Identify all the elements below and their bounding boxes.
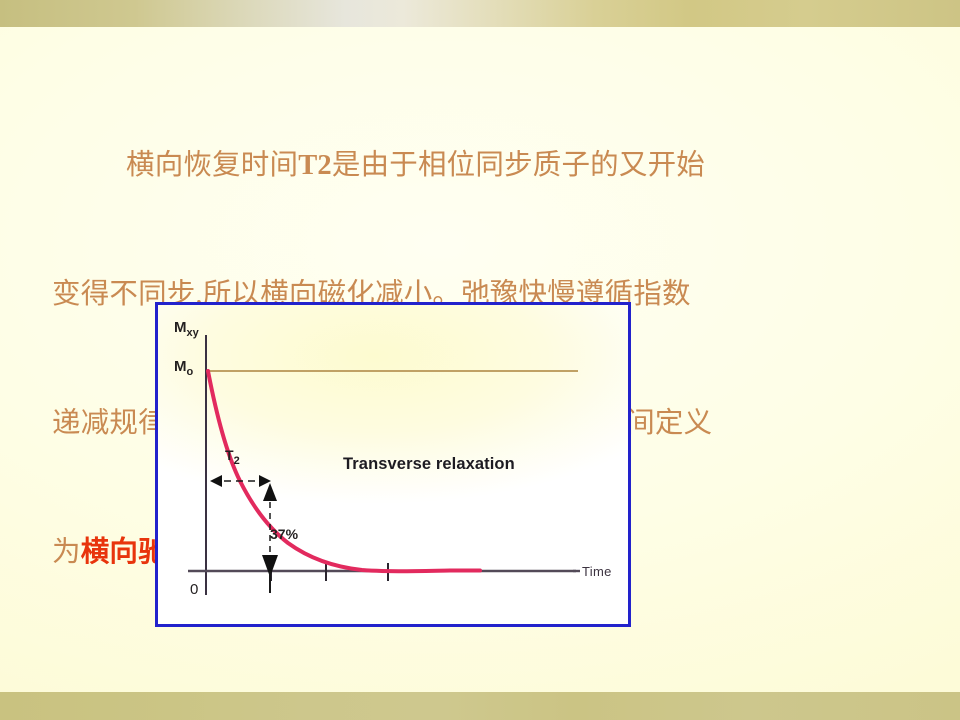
slide-bottom-band (0, 692, 960, 720)
transverse-relaxation-figure: Mxy Mo 0 Time T2 37% Transverse relaxati… (155, 302, 631, 627)
text-run: 横向恢复时间 (126, 150, 298, 181)
slide: 横向恢复时间T2是由于相位同步质子的又开始 变得不同步,所以横向磁化减小。弛豫快… (0, 0, 960, 720)
t2-arrow-head-left (210, 475, 222, 487)
body-text-line-1: 横向恢复时间T2是由于相位同步质子的又开始 (52, 144, 872, 187)
origin-label: 0 (190, 581, 198, 598)
slide-top-band (0, 0, 960, 27)
text-run: 为 (52, 537, 81, 568)
x-axis-label: Time (582, 564, 612, 579)
figure-title: Transverse relaxation (343, 455, 515, 474)
text-run: 是由于相位同步质子的又开始 (332, 150, 705, 181)
t2-label: T2 (225, 447, 240, 467)
percent-arrow-head-up (263, 483, 277, 501)
y-axis-label: Mxy (174, 319, 199, 339)
y-max-label: Mo (174, 358, 193, 378)
text-run-bold: T2 (298, 150, 332, 181)
percent-label: 37% (270, 526, 298, 542)
